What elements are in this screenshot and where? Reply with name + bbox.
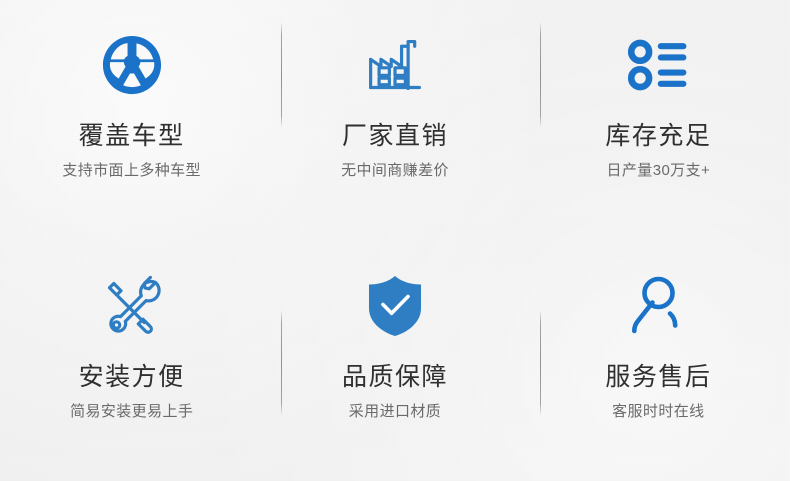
feature-subtitle: 简易安装更易上手	[70, 404, 193, 419]
shield-check-icon	[366, 263, 424, 349]
feature-card-vehicle-coverage: 覆盖车型 支持市面上多种车型	[0, 0, 263, 241]
feature-title: 覆盖车型	[79, 124, 185, 149]
feature-title: 安装方便	[79, 365, 185, 390]
feature-card-easy-install: 安装方便 简易安装更易上手	[0, 241, 263, 481]
feature-title: 库存充足	[605, 124, 711, 149]
feature-card-inventory: 库存充足 日产量30万支+	[527, 0, 790, 241]
feature-subtitle: 支持市面上多种车型	[62, 163, 201, 178]
feature-title: 品质保障	[342, 365, 448, 390]
inventory-list-icon	[627, 22, 689, 108]
column-divider	[540, 22, 541, 128]
person-service-icon	[629, 263, 687, 349]
feature-subtitle: 日产量30万支+	[607, 163, 711, 178]
feature-subtitle: 无中间商赚差价	[341, 163, 449, 178]
feature-grid: 覆盖车型 支持市面上多种车型 厂家直销 无中间商赚差	[0, 0, 790, 481]
feature-title: 厂家直销	[342, 124, 448, 149]
factory-icon	[365, 22, 425, 108]
column-divider	[281, 22, 282, 128]
feature-subtitle: 客服时时在线	[612, 404, 704, 419]
tools-wrench-screwdriver-icon	[100, 263, 164, 349]
feature-subtitle: 采用进口材质	[349, 404, 441, 419]
feature-card-after-sales: 服务售后 客服时时在线	[527, 241, 790, 481]
feature-card-quality-guarantee: 品质保障 采用进口材质	[263, 241, 526, 481]
column-divider	[281, 310, 282, 416]
feature-card-factory-direct: 厂家直销 无中间商赚差价	[263, 0, 526, 241]
steering-wheel-icon	[101, 22, 163, 108]
feature-title: 服务售后	[605, 365, 711, 390]
column-divider	[540, 310, 541, 416]
feature-highlights-banner: 覆盖车型 支持市面上多种车型 厂家直销 无中间商赚差	[0, 0, 790, 481]
